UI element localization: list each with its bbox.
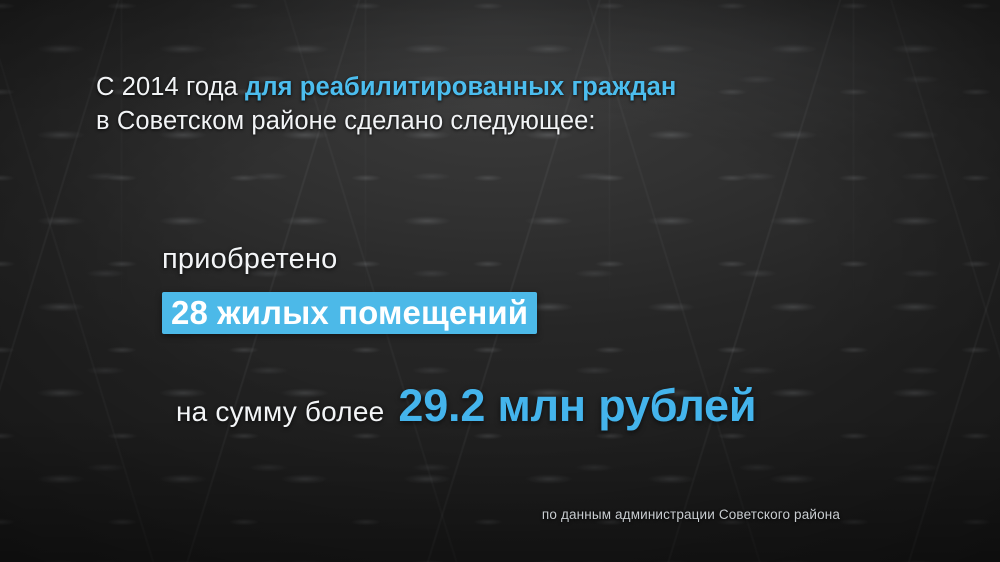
amount-value: 29.2 млн рублей [398, 380, 756, 432]
headline-line-1-prefix: С 2014 года [96, 73, 245, 101]
headline-line-2: в Советском районе сделано следующее: [96, 104, 916, 138]
amount-line: на сумму более 29.2 млн рублей [176, 380, 756, 432]
stat-label: приобретено [162, 243, 338, 276]
stat-highlight-text: 28 жилых помещений [171, 296, 528, 329]
infographic-slide: С 2014 года для реабилитированных гражда… [0, 0, 1000, 562]
headline-line-1: С 2014 года для реабилитированных гражда… [96, 70, 916, 104]
headline-accent-phrase: для реабилитированных граждан [245, 73, 676, 101]
source-attribution: по данным администрации Советского район… [542, 507, 840, 522]
amount-prefix: на сумму более [176, 396, 384, 428]
stat-highlight-box: 28 жилых помещений [162, 292, 537, 334]
headline: С 2014 года для реабилитированных гражда… [96, 70, 916, 138]
slide-content: С 2014 года для реабилитированных гражда… [0, 0, 1000, 562]
